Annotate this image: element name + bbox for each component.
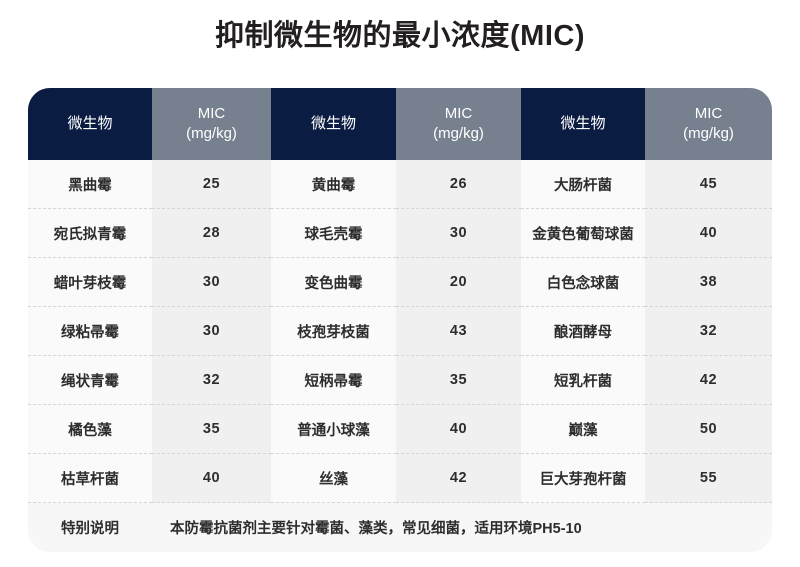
note-text: 本防霉抗菌剂主要针对霉菌、藻类，常见细菌，适用环境PH5-10 (152, 503, 772, 553)
page-root: 抑制微生物的最小浓度(MIC) 微生物 MIC (mg/kg) (0, 0, 800, 567)
cell-microbe: 酿酒酵母 (521, 307, 645, 356)
cell-mic: 50 (645, 405, 772, 454)
cell-microbe: 枯草杆菌 (28, 454, 152, 503)
cell-microbe: 大肠杆菌 (521, 160, 645, 209)
header-mic-1: MIC (mg/kg) (152, 88, 271, 160)
cell-microbe: 绳状青霉 (28, 356, 152, 405)
table-row: 绳状青霉 32 短柄帚霉 35 短乳杆菌 42 (28, 356, 772, 405)
cell-microbe: 枝孢芽枝菌 (271, 307, 396, 356)
table-row: 橘色藻 35 普通小球藻 40 巅藻 50 (28, 405, 772, 454)
cell-microbe: 短乳杆菌 (521, 356, 645, 405)
cell-mic: 26 (396, 160, 521, 209)
header-mic-2: MIC (mg/kg) (396, 88, 521, 160)
cell-microbe: 巅藻 (521, 405, 645, 454)
cell-mic: 40 (396, 405, 521, 454)
header-microbe-1-label: 微生物 (67, 115, 112, 132)
table-row: 黑曲霉 25 黄曲霉 26 大肠杆菌 45 (28, 160, 772, 209)
cell-mic: 55 (645, 454, 772, 503)
mic-table: 微生物 MIC (mg/kg) 微生物 MIC (mg/kg) 微生物 (28, 88, 772, 552)
header-microbe-2-label: 微生物 (311, 115, 356, 132)
cell-microbe: 巨大芽孢杆菌 (521, 454, 645, 503)
table-row: 枯草杆菌 40 丝藻 42 巨大芽孢杆菌 55 (28, 454, 772, 503)
cell-mic: 25 (152, 160, 271, 209)
cell-microbe: 橘色藻 (28, 405, 152, 454)
cell-mic: 30 (152, 258, 271, 307)
header-mic-1-line2: (mg/kg) (186, 125, 237, 142)
cell-microbe: 球毛壳霉 (271, 209, 396, 258)
header-microbe-1: 微生物 (28, 88, 152, 160)
table-row: 绿粘帚霉 30 枝孢芽枝菌 43 酿酒酵母 32 (28, 307, 772, 356)
header-mic-3: MIC (mg/kg) (645, 88, 772, 160)
cell-mic: 30 (396, 209, 521, 258)
cell-mic: 28 (152, 209, 271, 258)
cell-mic: 35 (152, 405, 271, 454)
cell-microbe: 金黄色葡萄球菌 (521, 209, 645, 258)
cell-microbe: 变色曲霉 (271, 258, 396, 307)
cell-microbe: 丝藻 (271, 454, 396, 503)
cell-mic: 40 (152, 454, 271, 503)
cell-mic: 20 (396, 258, 521, 307)
cell-microbe: 黄曲霉 (271, 160, 396, 209)
header-mic-3-line1: MIC (695, 105, 723, 122)
table-row: 蜡叶芽枝霉 30 变色曲霉 20 白色念球菌 38 (28, 258, 772, 307)
table-body: 黑曲霉 25 黄曲霉 26 大肠杆菌 45 宛氏拟青霉 28 球毛壳霉 30 金… (28, 160, 772, 552)
header-row: 微生物 MIC (mg/kg) 微生物 MIC (mg/kg) 微生物 (28, 88, 772, 160)
header-microbe-2: 微生物 (271, 88, 396, 160)
header-mic-3-line2: (mg/kg) (683, 125, 734, 142)
cell-microbe: 绿粘帚霉 (28, 307, 152, 356)
cell-mic: 45 (645, 160, 772, 209)
header-microbe-3: 微生物 (521, 88, 645, 160)
cell-mic: 32 (645, 307, 772, 356)
cell-mic: 42 (396, 454, 521, 503)
cell-microbe: 黑曲霉 (28, 160, 152, 209)
cell-microbe: 普通小球藻 (271, 405, 396, 454)
note-label: 特别说明 (28, 503, 152, 553)
note-row: 特别说明 本防霉抗菌剂主要针对霉菌、藻类，常见细菌，适用环境PH5-10 (28, 503, 772, 553)
header-mic-2-line2: (mg/kg) (433, 125, 484, 142)
header-mic-2-line1: MIC (445, 105, 473, 122)
table-header: 微生物 MIC (mg/kg) 微生物 MIC (mg/kg) 微生物 (28, 88, 772, 160)
mic-table-container: 微生物 MIC (mg/kg) 微生物 MIC (mg/kg) 微生物 (28, 88, 772, 552)
cell-mic: 35 (396, 356, 521, 405)
cell-mic: 38 (645, 258, 772, 307)
cell-microbe: 宛氏拟青霉 (28, 209, 152, 258)
page-title: 抑制微生物的最小浓度(MIC) (0, 0, 800, 56)
header-mic-1-line1: MIC (198, 105, 226, 122)
cell-mic: 43 (396, 307, 521, 356)
header-microbe-3-label: 微生物 (560, 115, 605, 132)
cell-mic: 42 (645, 356, 772, 405)
table-row: 宛氏拟青霉 28 球毛壳霉 30 金黄色葡萄球菌 40 (28, 209, 772, 258)
cell-mic: 32 (152, 356, 271, 405)
cell-microbe: 蜡叶芽枝霉 (28, 258, 152, 307)
cell-microbe: 白色念球菌 (521, 258, 645, 307)
cell-mic: 30 (152, 307, 271, 356)
cell-mic: 40 (645, 209, 772, 258)
cell-microbe: 短柄帚霉 (271, 356, 396, 405)
